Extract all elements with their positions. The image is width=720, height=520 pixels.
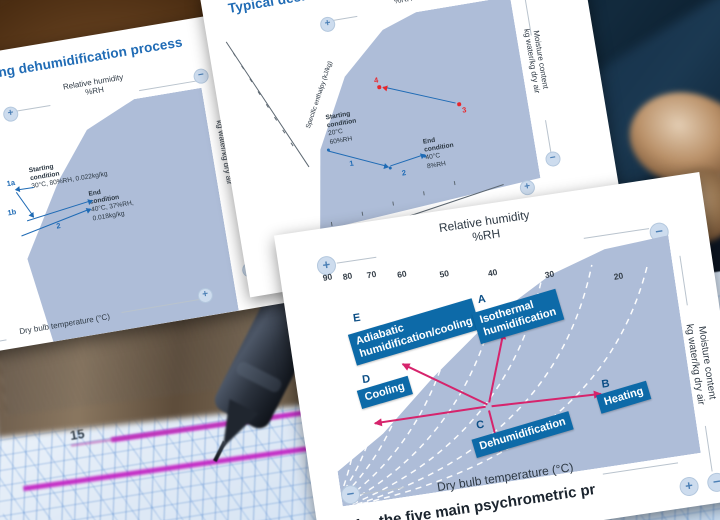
card3-rh-tick-50: 50 [439,268,450,280]
card1-top-axis-right [139,80,198,91]
card2-point-4 [377,85,381,89]
card3-plus-bottom[interactable]: + [678,476,700,498]
card3-letter-A: A [477,293,487,306]
card2-plus-top[interactable]: + [319,16,336,33]
card1-axis-top-unit: %RH [85,85,105,97]
card3-rh-tick-70: 70 [366,269,377,281]
card3-rh-tick-90: 90 [322,271,333,283]
card3-rh-tick-20: 20 [613,270,624,282]
card2-annotation-start: Starting condition 20°C 60%RH [325,110,360,147]
card1-axis-top: Relative humidity %RH [45,70,143,104]
card3-right-axis-bottom [705,426,713,472]
screenshot-stage: mperature 15 Typical condensing dehumidi… [0,0,720,520]
card1-arrow-1b [16,192,34,217]
card3-letter-C: C [475,419,485,432]
card2-minus-right[interactable]: − [544,150,561,167]
card2-plus-bottom[interactable]: + [519,179,536,196]
card3-letter-E: E [352,312,361,325]
card1-step-1b: 1b [7,207,17,217]
card3-minus-right[interactable]: − [706,472,720,494]
card2-annotation-end: End condition 40°C 8%RH [422,134,457,171]
card3-rh-tick-80: 80 [342,270,353,282]
card3-rh-tick-40: 40 [487,267,498,279]
card3-letter-B: B [601,378,611,391]
card3-top-axis-left [337,257,377,264]
card3-letter-D: D [361,373,371,386]
card1-bottom-axis-left [0,339,7,347]
card2-point-3 [457,102,461,106]
card1-minus-top[interactable]: − [192,68,209,85]
card1-plus-top[interactable]: + [2,105,19,122]
card3-rh-tick-60: 60 [396,268,407,280]
card3-rh-tick-30: 30 [544,269,555,281]
card3-top-axis-right [584,228,649,239]
card1-annotation-end: End condition 40°C, 37%RH, 0.018kg/kg [88,184,136,224]
card1-step-1a: 1a [6,178,16,188]
card3-right-axis-top [679,256,687,306]
card2-right-axis-bottom [545,120,552,154]
